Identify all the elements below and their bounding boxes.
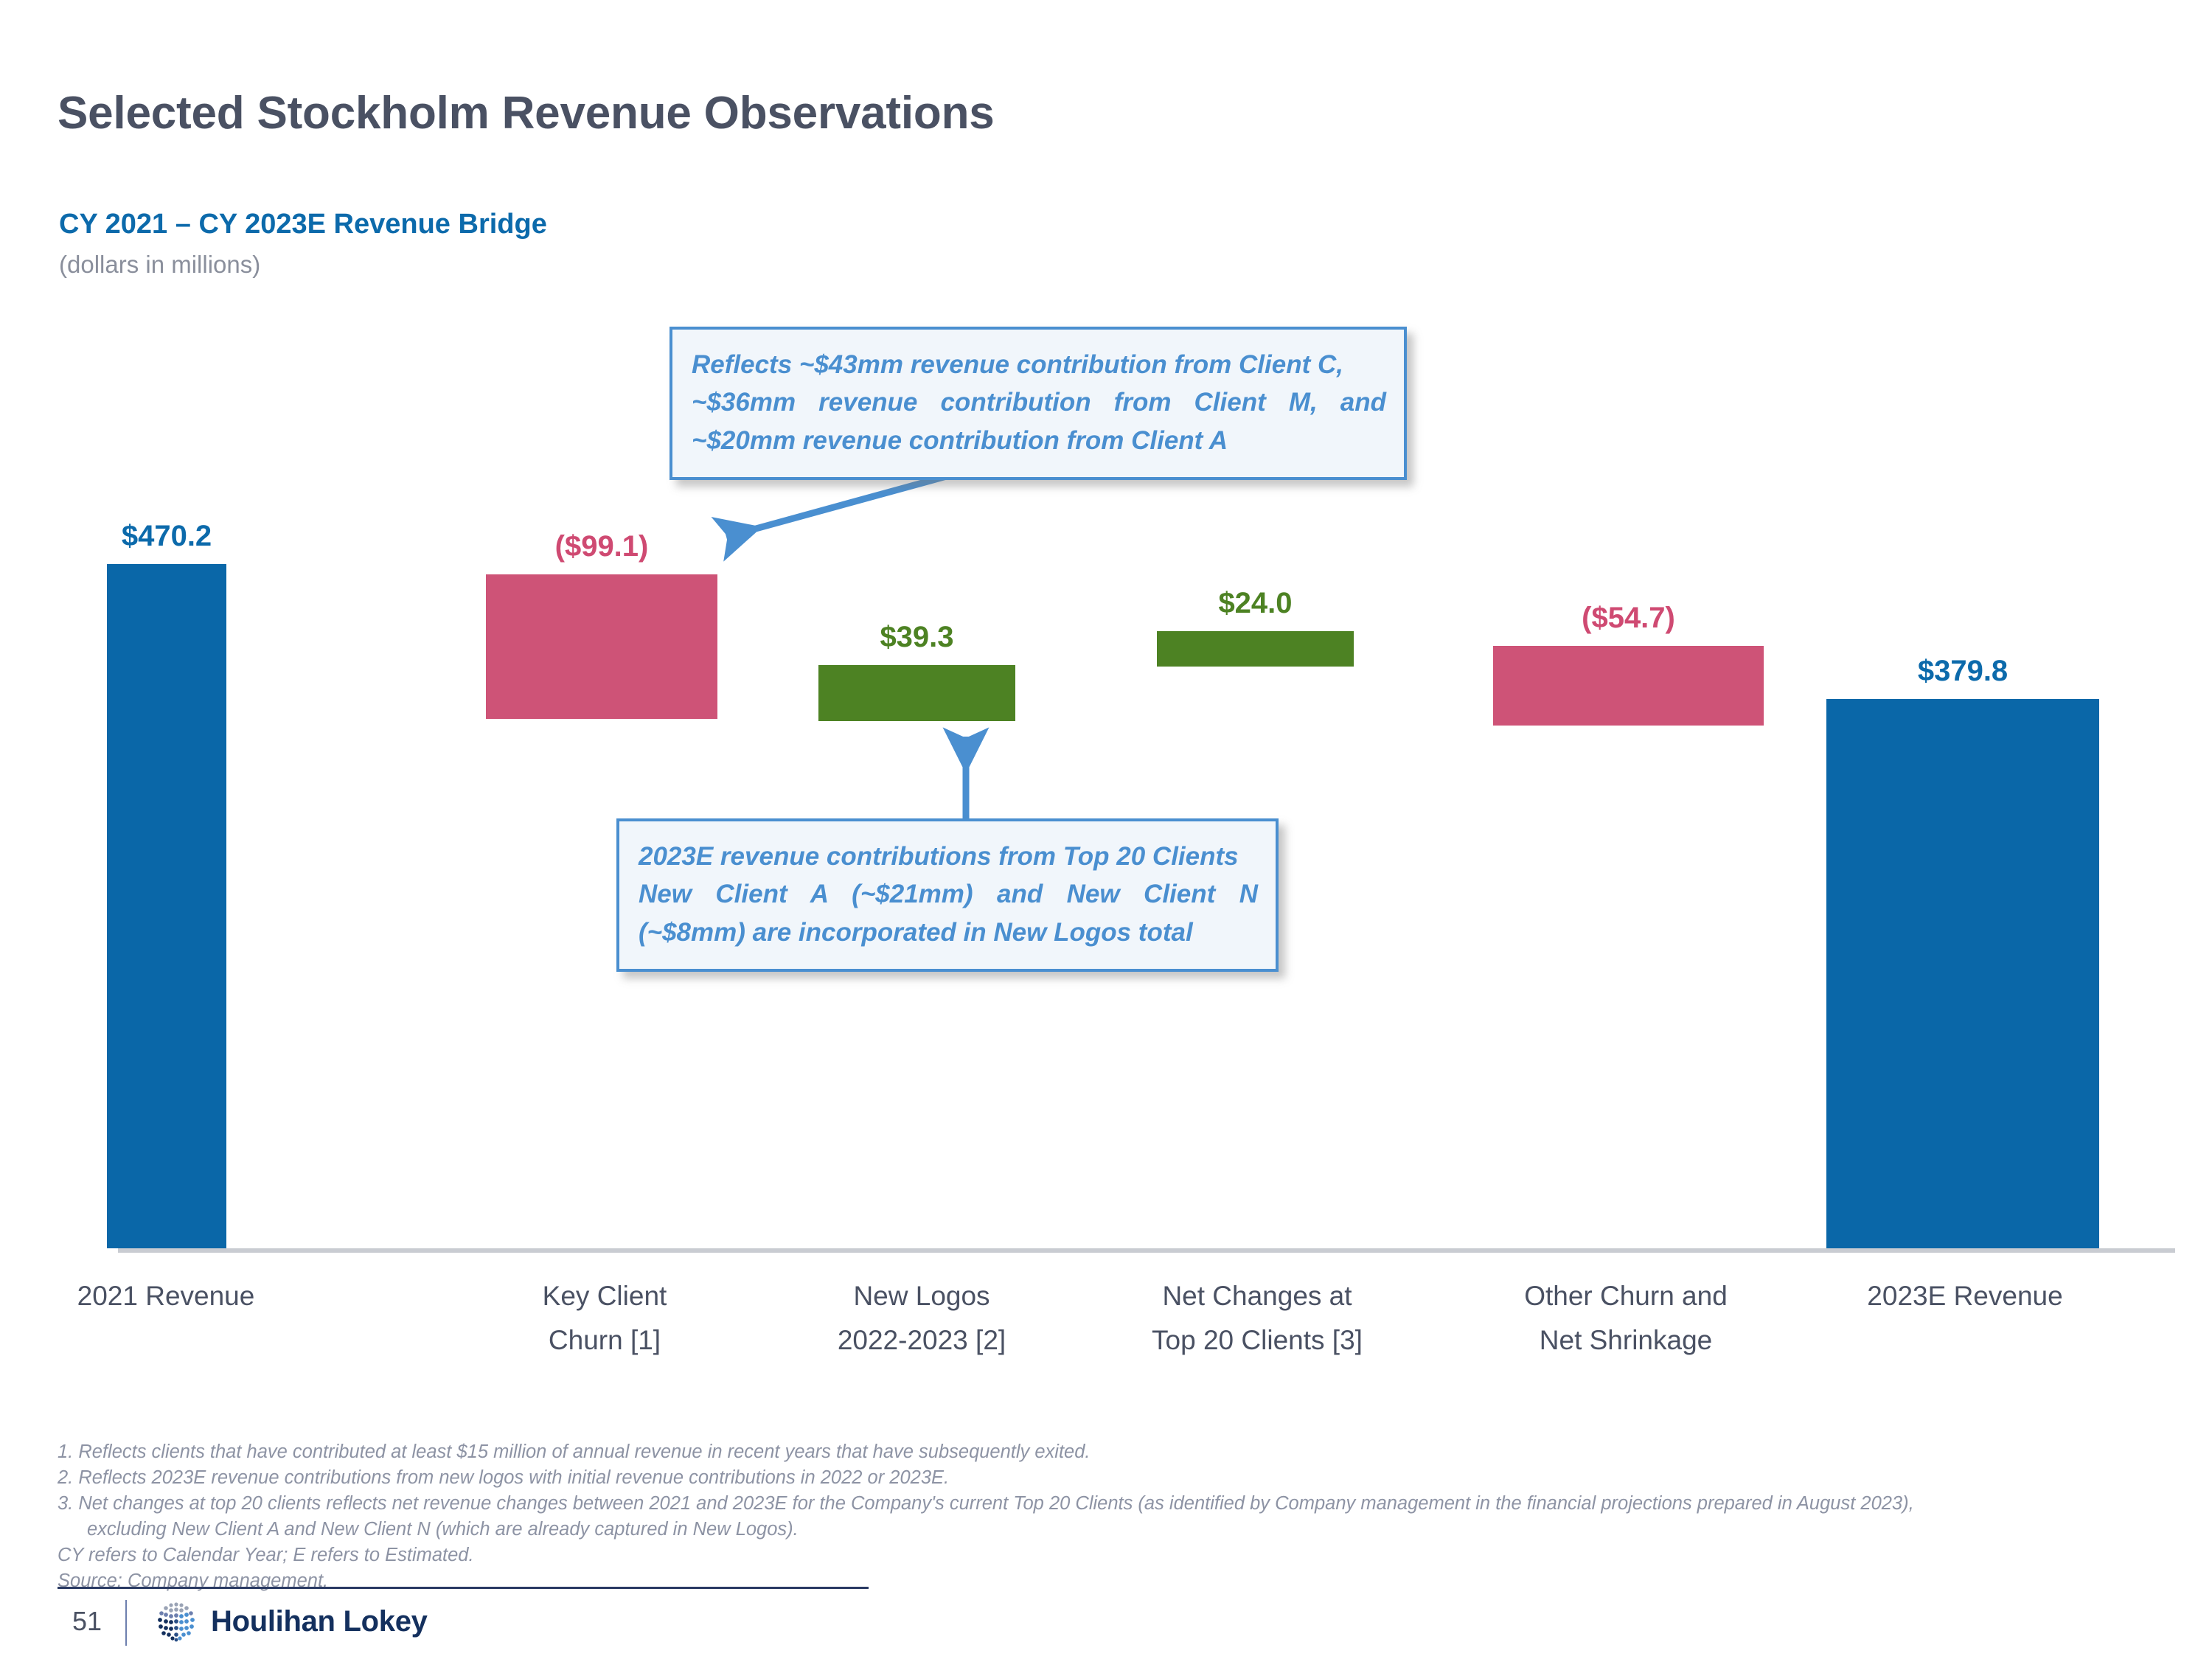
footer-divider [58,1587,869,1589]
callout-line-3: ~$20mm revenue contribution from Client … [692,422,1386,459]
cat-line-2: 2022-2023 [2] [804,1318,1040,1363]
cat-line-2: Churn [1] [487,1318,723,1363]
footnotes: 1. Reflects clients that have contribute… [58,1439,2166,1594]
bar-2021-revenue[interactable] [107,564,226,1248]
globe-icon [153,1599,199,1644]
footnote-1: 1. Reflects clients that have contribute… [58,1439,2166,1465]
cat-line-1: Other Churn and [1497,1274,1755,1318]
footnote-3-continued: excluding New Client A and New Client N … [58,1517,2166,1543]
cat-line-1: New Logos [804,1274,1040,1318]
value-label-other-churn: ($54.7) [1493,602,1764,635]
callout-line-2: ~$36mm revenue contribution from Client … [692,383,1386,421]
footnote-2: 2. Reflects 2023E revenue contributions … [58,1465,2166,1491]
callout-key-client-churn[interactable]: Reflects ~$43mm revenue contribution fro… [669,327,1407,480]
callout-line-1: Reflects ~$43mm revenue contribution fro… [692,346,1386,383]
brand-name: Houlihan Lokey [211,1605,428,1638]
category-label-2023e-revenue: 2023E Revenue [1836,1274,2094,1318]
callout-new-logos[interactable]: 2023E revenue contributions from Top 20 … [616,818,1279,972]
revenue-bridge-chart: $470.2 ($99.1) $39.3 $24.0 ($54.7) $379.… [0,0,2212,1659]
category-label-2021-revenue: 2021 Revenue [52,1274,280,1318]
category-label-other-churn: Other Churn and Net Shrinkage [1497,1274,1755,1363]
cat-line-2: Net Shrinkage [1497,1318,1755,1363]
bar-2023e-revenue[interactable] [1826,699,2099,1248]
callout-line-2: New Client A (~$21mm) and New Client N [639,875,1258,913]
brand-logo: Houlihan Lokey [153,1599,428,1644]
bar-new-logos[interactable] [818,665,1015,721]
bar-net-changes-top20[interactable] [1157,631,1354,667]
footnote-source: Source: Company management. [58,1568,2166,1594]
page-number: 51 [72,1606,102,1637]
footnote-3: 3. Net changes at top 20 clients reflect… [58,1491,2166,1517]
callout-line-1: 2023E revenue contributions from Top 20 … [639,838,1258,875]
value-label-2023e-revenue: $379.8 [1826,655,2099,688]
value-label-net-changes-top20: $24.0 [1157,587,1354,620]
category-label-key-client-churn: Key Client Churn [1] [487,1274,723,1363]
cat-line-2: Top 20 Clients [3] [1135,1318,1379,1363]
bar-key-client-churn[interactable] [486,574,717,719]
value-label-2021-revenue: $470.2 [107,520,226,553]
cat-line-1: 2023E Revenue [1836,1274,2094,1318]
bar-other-churn[interactable] [1493,646,1764,726]
category-label-new-logos: New Logos 2022-2023 [2] [804,1274,1040,1363]
callout-line-3: (~$8mm) are incorporated in New Logos to… [639,914,1258,951]
callout-arrow-new-logos [936,726,995,822]
value-label-new-logos: $39.3 [818,621,1015,654]
category-label-net-changes-top20: Net Changes at Top 20 Clients [3] [1135,1274,1379,1363]
footnote-definitions: CY refers to Calendar Year; E refers to … [58,1543,2166,1568]
footer-vertical-divider [125,1600,127,1646]
cat-line-1: Net Changes at [1135,1274,1379,1318]
cat-line-1: Key Client [487,1274,723,1318]
cat-line-1: 2021 Revenue [52,1274,280,1318]
chart-baseline [118,1248,2175,1253]
value-label-key-client-churn: ($99.1) [486,530,717,563]
slide: Selected Stockholm Revenue Observations … [0,0,2212,1659]
